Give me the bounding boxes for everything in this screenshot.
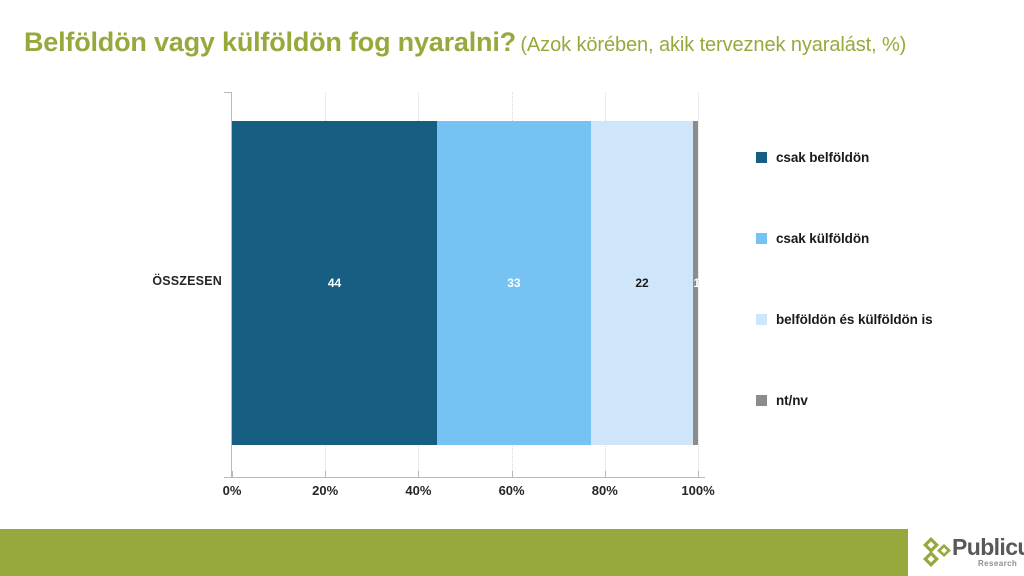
legend-swatch-icon-3: [756, 314, 767, 325]
footer-band: [0, 529, 908, 576]
legend-label-4: nt/nv: [776, 393, 808, 408]
logo-diamond-marks: [922, 537, 952, 567]
bar-segment-3: 22: [591, 121, 694, 445]
stacked-bar-chart: 4433221 ÖSSZESEN 0%20%40%60%80%100%: [0, 0, 1024, 520]
bar-segment-4: 1: [693, 121, 698, 445]
x-axis-tick-0%: [232, 471, 233, 478]
x-axis-tick-40%: [418, 471, 419, 478]
x-axis-tick-60%: [512, 471, 513, 478]
legend-swatch-icon-2: [756, 233, 767, 244]
bar-segment-1: 44: [232, 121, 437, 445]
legend-swatch-icon-1: [756, 152, 767, 163]
legend-item-3[interactable]: belföldön és külföldön is: [756, 312, 933, 327]
legend-swatch-icon-4: [756, 395, 767, 406]
legend-item-1[interactable]: csak belföldön: [756, 150, 869, 165]
bar-row-osszesen: 4433221: [232, 121, 698, 445]
x-axis-line: [224, 477, 705, 478]
category-label-osszesen: ÖSSZESEN: [100, 274, 222, 288]
x-axis-label-40%: 40%: [388, 483, 448, 498]
legend-item-2[interactable]: csak külföldön: [756, 231, 869, 246]
x-axis-tick-20%: [325, 471, 326, 478]
x-axis-label-0%: 0%: [202, 483, 262, 498]
x-axis-label-60%: 60%: [482, 483, 542, 498]
legend-label-2: csak külföldön: [776, 231, 869, 246]
legend-label-3: belföldön és külföldön is: [776, 312, 933, 327]
bar-value-label-1: 44: [232, 276, 437, 290]
x-axis-label-100%: 100%: [668, 483, 728, 498]
x-axis-label-20%: 20%: [295, 483, 355, 498]
logo-wordmark: Publicus: [952, 536, 1024, 559]
y-axis-tick-top: [224, 92, 232, 93]
legend-item-4[interactable]: nt/nv: [756, 393, 808, 408]
bar-segment-2: 33: [437, 121, 591, 445]
x-axis-label-80%: 80%: [575, 483, 635, 498]
publicus-research-logo: Publicus Research: [922, 534, 1024, 574]
logo-tagline: Research: [978, 560, 1017, 568]
bar-value-label-4: 1: [693, 276, 698, 290]
bar-value-label-3: 22: [591, 276, 694, 290]
x-axis-tick-100%: [698, 471, 699, 478]
legend-label-1: csak belföldön: [776, 150, 869, 165]
bar-value-label-2: 33: [437, 276, 591, 290]
x-axis-tick-80%: [605, 471, 606, 478]
